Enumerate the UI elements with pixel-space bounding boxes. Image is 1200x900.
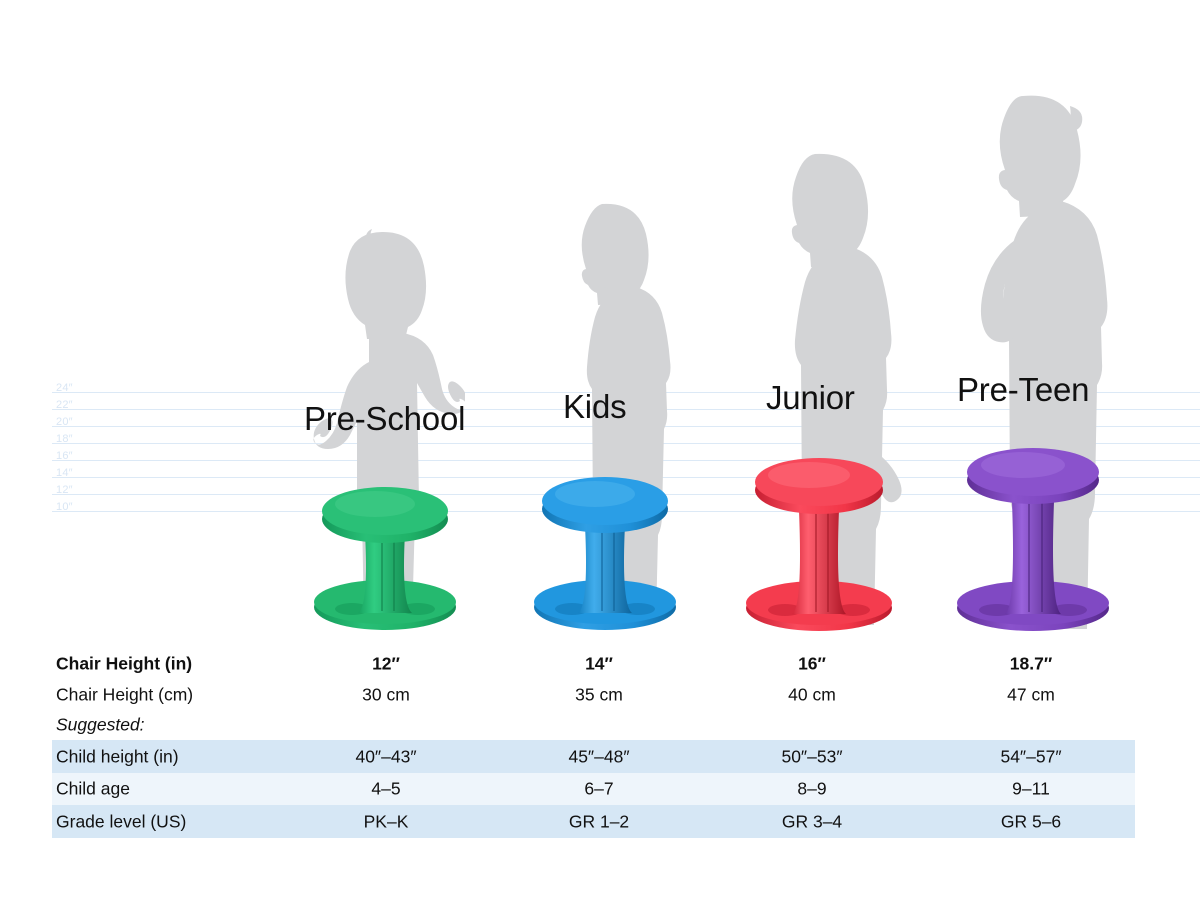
cell-chair-height-in-kids: 14″ [585, 653, 613, 674]
tick-label-12: 12″ [56, 485, 73, 496]
size-guide-infographic: 24″ 22″ 20″ 18″ 16″ 14″ 12″ 10″ [0, 0, 1200, 900]
table-row-child-height: Child height (in) 40″–43″ 45″–48″ 50″–53… [0, 740, 1200, 773]
cell-child-age-kids: 6–7 [584, 779, 613, 800]
row-label-chair-height-cm: Chair Height (cm) [56, 684, 193, 705]
cell-child-age-junior: 8–9 [797, 779, 826, 800]
stool-kids [532, 469, 678, 631]
row-label-grade-level: Grade level (US) [56, 811, 186, 832]
cell-chair-height-cm-kids: 35 cm [575, 684, 623, 705]
tick-label-16: 16″ [56, 451, 73, 462]
row-label-child-age: Child age [56, 779, 130, 800]
cell-child-height-junior: 50″–53″ [781, 746, 842, 767]
cell-grade-level-kids: GR 1–2 [569, 811, 629, 832]
tick-label-10: 10″ [56, 502, 73, 513]
tick-label-14: 14″ [56, 468, 73, 479]
tick-label-18: 18″ [56, 434, 73, 445]
tick-label-20: 20″ [56, 417, 73, 428]
table-row-chair-height-cm: Chair Height (cm) 30 cm 35 cm 40 cm 47 c… [0, 679, 1200, 710]
stool-preteen [955, 440, 1111, 632]
table-row-grade-level: Grade level (US) PK–K GR 1–2 GR 3–4 GR 5… [0, 805, 1200, 838]
cell-chair-height-cm-junior: 40 cm [788, 684, 836, 705]
row-label-suggested: Suggested: [56, 715, 145, 736]
cell-grade-level-preteen: GR 5–6 [1001, 811, 1061, 832]
spec-table: Chair Height (in) 12″ 14″ 16″ 18.7″ Chai… [0, 648, 1200, 838]
cell-child-height-preteen: 54″–57″ [1000, 746, 1061, 767]
row-label-child-height: Child height (in) [56, 746, 179, 767]
table-row-chair-height-in: Chair Height (in) 12″ 14″ 16″ 18.7″ [0, 648, 1200, 679]
cell-child-age-preschool: 4–5 [371, 779, 400, 800]
group-label-preschool: Pre-School [304, 400, 465, 438]
stool-preschool [312, 479, 458, 631]
cell-chair-height-cm-preschool: 30 cm [362, 684, 410, 705]
cell-child-age-preteen: 9–11 [1012, 779, 1050, 800]
row-label-chair-height-in: Chair Height (in) [56, 653, 192, 674]
cell-grade-level-preschool: PK–K [364, 811, 409, 832]
cell-chair-height-in-preteen: 18.7″ [1010, 653, 1052, 674]
table-row-child-age: Child age 4–5 6–7 8–9 9–11 [0, 773, 1200, 805]
tick-label-22: 22″ [56, 400, 73, 411]
cell-chair-height-cm-preteen: 47 cm [1007, 684, 1055, 705]
table-row-suggested: Suggested: [0, 710, 1200, 740]
cell-child-height-preschool: 40″–43″ [355, 746, 416, 767]
cell-child-height-kids: 45″–48″ [568, 746, 629, 767]
tick-label-24: 24″ [56, 383, 73, 394]
stool-junior [744, 450, 894, 632]
group-label-kids: Kids [563, 388, 626, 426]
group-label-preteen: Pre-Teen [957, 371, 1089, 409]
cell-grade-level-junior: GR 3–4 [782, 811, 842, 832]
group-label-junior: Junior [766, 379, 855, 417]
cell-chair-height-in-preschool: 12″ [372, 653, 400, 674]
cell-chair-height-in-junior: 16″ [798, 653, 826, 674]
